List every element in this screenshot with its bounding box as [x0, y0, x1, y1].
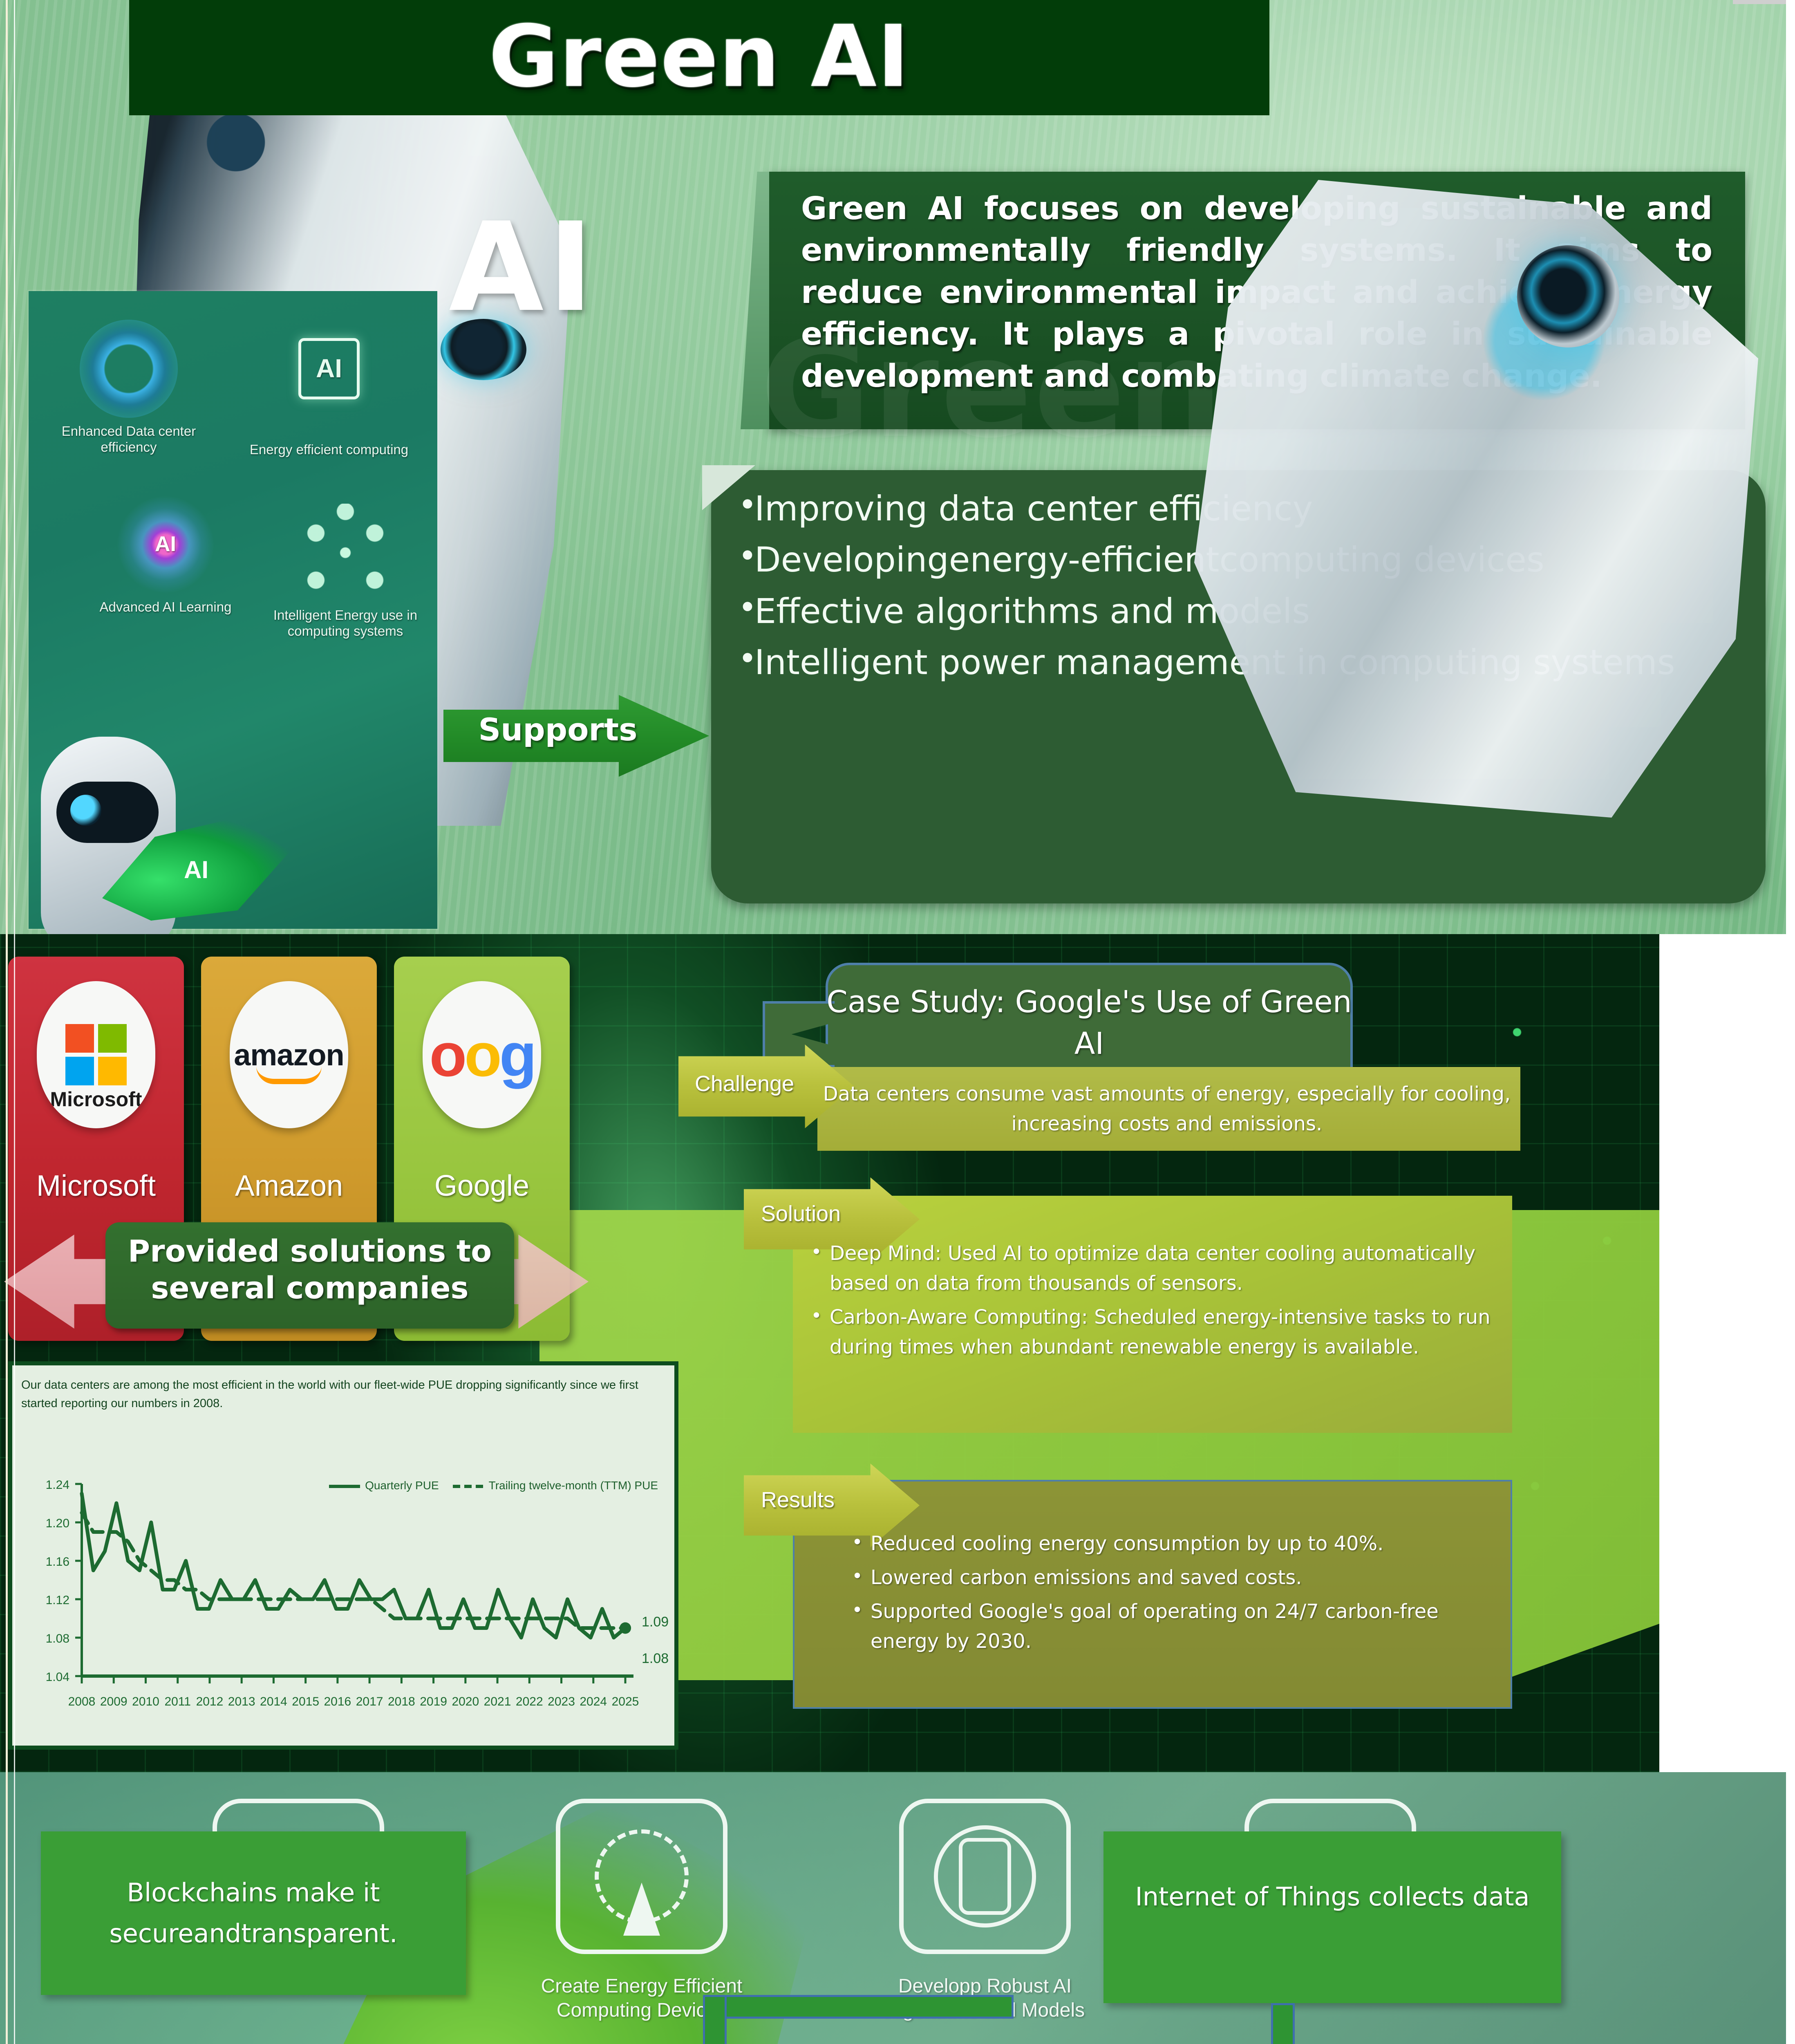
- challenge-text: Data centers consume vast amounts of ene…: [821, 1079, 1512, 1139]
- supports-label: Supports: [443, 711, 672, 748]
- svg-text:2020: 2020: [452, 1695, 479, 1708]
- signal-device-icon: [556, 1799, 727, 1954]
- page-title: Green AI: [129, 7, 1269, 106]
- svg-text:2022: 2022: [516, 1695, 543, 1708]
- challenge-tag-label: Challenge: [695, 1071, 794, 1096]
- amazon-logo: amazon: [230, 981, 348, 1128]
- pue-note: Our data centers are among the most effi…: [21, 1376, 659, 1413]
- svg-text:1.09: 1.09: [642, 1614, 669, 1630]
- svg-text:1.08: 1.08: [642, 1651, 669, 1666]
- ai-neuron-icon: AI: [116, 495, 215, 594]
- flow-arrow-blockchain-down: [703, 1995, 727, 2044]
- blockchain-text: Blockchains make it secureandtransparent…: [49, 1872, 458, 1954]
- robot-shoulder-joint: [1517, 245, 1619, 347]
- company-label-1: Amazon: [201, 1169, 377, 1203]
- svg-text:2017: 2017: [356, 1695, 383, 1708]
- data-swirl-icon: [80, 320, 178, 418]
- company-label-0: Microsoft: [8, 1169, 184, 1203]
- companies-banner-text: Provided solutions to several companies: [105, 1233, 514, 1307]
- illus-item-3: Intelligent Energy use in computing syst…: [257, 504, 433, 639]
- svg-text:2013: 2013: [228, 1695, 255, 1708]
- pue-line-chart: 1.041.081.121.161.201.242008200920102011…: [12, 1468, 683, 1754]
- case-study-title: Case Study: Google's Use of Green AI: [826, 981, 1353, 1065]
- flow-arrow-iot-stem: [1271, 2003, 1295, 2044]
- svg-text:2021: 2021: [484, 1695, 511, 1708]
- svg-text:2019: 2019: [420, 1695, 447, 1708]
- svg-text:1.20: 1.20: [46, 1517, 69, 1530]
- microsoft-logo: Microsoft: [37, 981, 155, 1128]
- solution-bullet-1: Carbon-Aware Computing: Scheduled energy…: [805, 1302, 1500, 1362]
- results-bullet-0: Reduced cooling energy consumption by up…: [846, 1529, 1492, 1559]
- svg-text:1.04: 1.04: [46, 1670, 69, 1684]
- ai-chip-icon: AI: [280, 338, 378, 436]
- svg-text:1.08: 1.08: [46, 1632, 69, 1645]
- svg-text:2012: 2012: [196, 1695, 224, 1708]
- svg-text:2018: 2018: [388, 1695, 415, 1708]
- frame-top-right-tab: [1733, 0, 1786, 4]
- svg-text:2016: 2016: [324, 1695, 351, 1708]
- svg-text:2010: 2010: [132, 1695, 159, 1708]
- results-tag-label: Results: [761, 1487, 835, 1513]
- flow-arrow-blockchain-stem: [703, 1995, 1014, 2019]
- svg-text:1.12: 1.12: [46, 1594, 69, 1607]
- google-logo: oog: [423, 981, 541, 1128]
- solution-bullet-0: Deep Mind: Used AI to optimize data cent…: [805, 1239, 1500, 1298]
- ai-algorithm-icon: [899, 1799, 1071, 1954]
- frame-line-left-inner: [14, 0, 15, 2044]
- svg-text:2014: 2014: [260, 1695, 287, 1708]
- results-body: Reduced cooling energy consumption by up…: [846, 1529, 1492, 1661]
- illus-item-2: AI Advanced AI Learning: [78, 495, 253, 615]
- svg-text:2024: 2024: [580, 1695, 607, 1708]
- solution-tag-label: Solution: [761, 1201, 841, 1226]
- svg-text:1.24: 1.24: [46, 1478, 69, 1492]
- svg-text:2009: 2009: [100, 1695, 128, 1708]
- illus-item-1: AI Energy efficient computing: [241, 320, 417, 458]
- svg-text:2008: 2008: [68, 1695, 96, 1708]
- svg-text:1.16: 1.16: [46, 1555, 69, 1569]
- illus-item-label-0: Enhanced Data center efficiency: [41, 424, 217, 455]
- energy-network-icon: [296, 504, 394, 602]
- infographic-poster: Green AI Enhanced Data center efficiency…: [0, 0, 1795, 2044]
- svg-text:2015: 2015: [292, 1695, 319, 1708]
- svg-text:2025: 2025: [612, 1695, 639, 1708]
- results-bullet-1: Lowered carbon emissions and saved costs…: [846, 1563, 1492, 1593]
- illus-item-label-2: Advanced AI Learning: [78, 599, 253, 615]
- frame-line-left-outer: [6, 0, 8, 2044]
- solution-body: Deep Mind: Used AI to optimize data cent…: [805, 1239, 1500, 1366]
- svg-text:2011: 2011: [164, 1695, 191, 1708]
- svg-text:2023: 2023: [548, 1695, 575, 1708]
- company-label-2: Google: [394, 1169, 570, 1203]
- illus-item-label-1: Energy efficient computing: [241, 442, 417, 458]
- pue-chart-block: Our data centers are among the most effi…: [8, 1361, 678, 1750]
- leaf-ai-label: AI: [339, 196, 707, 339]
- frame-right: [1786, 0, 1795, 2044]
- illustration-card: Enhanced Data center efficiency AI Energ…: [29, 291, 437, 929]
- iot-text: Internet of Things collects data: [1112, 1876, 1553, 1917]
- illus-item-0: Enhanced Data center efficiency: [41, 320, 217, 455]
- results-bullet-2: Supported Google's goal of operating on …: [846, 1597, 1492, 1656]
- illus-item-label-3: Intelligent Energy use in computing syst…: [257, 607, 433, 639]
